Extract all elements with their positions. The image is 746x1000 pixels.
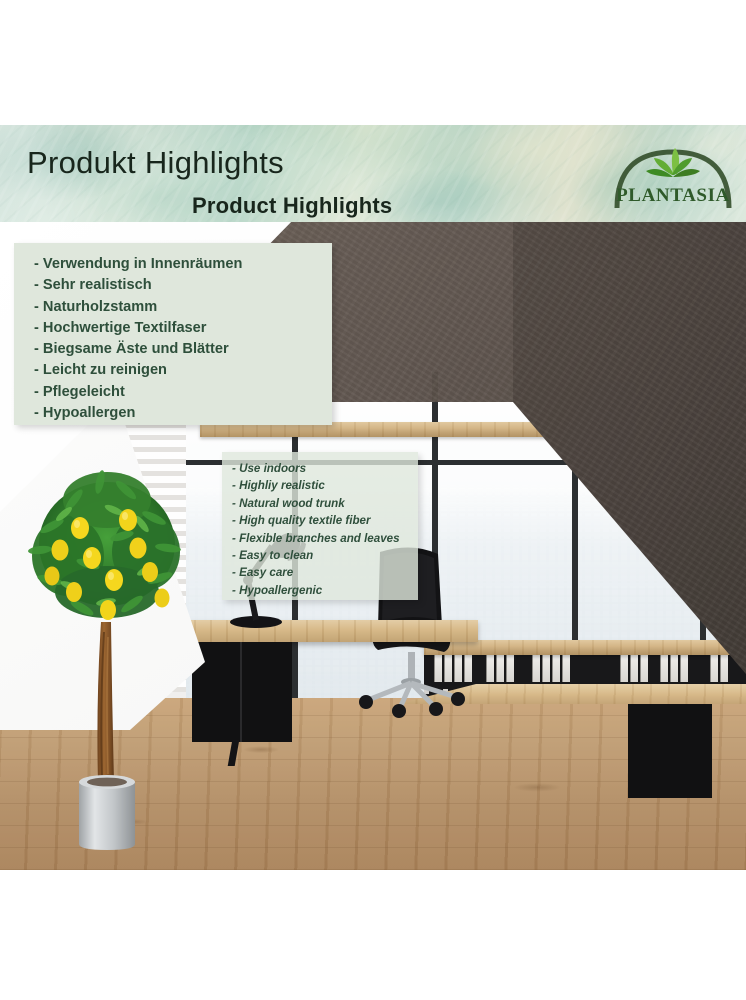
binder-group	[710, 652, 728, 682]
binder-group	[660, 652, 688, 682]
features-list-german: - Verwendung in Innenräumen - Sehr reali…	[14, 243, 332, 424]
artificial-lemon-tree	[22, 452, 192, 852]
feature-item: - Verwendung in Innenräumen	[34, 254, 332, 275]
logo-wordmark: PLANTASIA	[616, 185, 730, 206]
desk-top	[178, 620, 478, 642]
binder-group	[532, 652, 570, 682]
features-panel-english: - Use indoors - Highliy realistic - Natu…	[222, 452, 418, 600]
feature-item: - Highliy realistic	[232, 477, 418, 494]
feature-item: - Naturholzstamm	[34, 297, 332, 318]
page-title-german: Produkt Highlights	[27, 145, 284, 181]
wood-ledge-shelf	[424, 640, 746, 655]
binder-group	[486, 652, 514, 682]
desk-leg-panel	[192, 642, 292, 742]
binder-group	[620, 652, 648, 682]
feature-item: - Hypoallergenic	[232, 582, 418, 599]
feature-item: - Easy to clean	[232, 547, 418, 564]
feature-item: - Use indoors	[232, 460, 418, 477]
feature-item: - Sehr realistisch	[34, 275, 332, 296]
top-white-margin	[0, 0, 746, 125]
brand-logo: PLANTASIA	[607, 144, 739, 210]
product-highlights-image: Produkt Highlights Product Highlights PL…	[0, 0, 746, 1000]
feature-item: - Easy care	[232, 564, 418, 581]
features-panel-german: - Verwendung in Innenräumen - Sehr reali…	[14, 243, 332, 425]
page-title-english: Product Highlights	[192, 193, 392, 219]
wood-grain	[178, 620, 478, 642]
conference-table-leg	[628, 704, 712, 798]
desk-leg-seam	[240, 642, 242, 742]
feature-item: - Natural wood trunk	[232, 495, 418, 512]
feature-item: - Biegsame Äste und Blätter	[34, 339, 332, 360]
feature-item: - Pflegeleicht	[34, 382, 332, 403]
feature-item: - High quality textile fiber	[232, 512, 418, 529]
feature-item: - Hochwertige Textilfaser	[34, 318, 332, 339]
plantasia-logo-icon: PLANTASIA	[607, 144, 739, 210]
feature-item: - Hypoallergen	[34, 403, 332, 424]
features-list-english: - Use indoors - Highliy realistic - Natu…	[222, 452, 418, 599]
wood-grain	[424, 640, 746, 655]
feature-item: - Leicht zu reinigen	[34, 360, 332, 381]
bottom-white-margin	[0, 870, 746, 1000]
feature-item: - Flexible branches and leaves	[232, 530, 418, 547]
